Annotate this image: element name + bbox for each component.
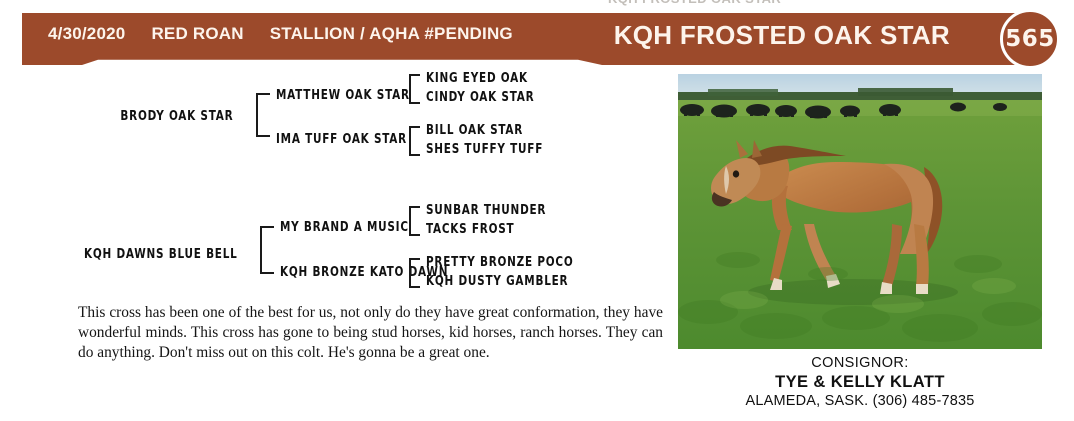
lot-number-badge: 565 <box>1000 9 1060 69</box>
foal-photo <box>678 74 1042 349</box>
lot-number-value: 565 <box>1005 26 1055 52</box>
page-title: KQH FROSTED OAK STAR <box>614 20 950 51</box>
banner-metadata-group: 4/30/2020 RED ROAN STALLION / AQHA #PEND… <box>48 24 513 44</box>
horse-description: This cross has been one of the best for … <box>78 303 663 363</box>
foal-sex-registry: STALLION / AQHA #PENDING <box>270 24 513 44</box>
pedigree-sire-sire-sire: KING EYED OAK <box>426 70 528 86</box>
pedigree-sire-sire-dam: CINDY OAK STAR <box>426 89 534 105</box>
pedigree-dam-sire-sire: SUNBAR THUNDER <box>426 202 546 218</box>
pedigree-dam: KQH DAWNS BLUE BELL <box>84 246 238 262</box>
pedigree-bracket-dam <box>260 226 274 274</box>
pedigree-tree: BRODY OAK STAR MATTHEW OAK STAR IMA TUFF… <box>70 66 670 294</box>
consignor-label: CONSIGNOR: <box>678 354 1042 372</box>
foal-date: 4/30/2020 <box>48 24 125 44</box>
pedigree-bracket-sire <box>256 93 270 137</box>
foal-hind-hoof-near <box>916 284 928 294</box>
pedigree-bracket-sire-sire <box>409 74 420 104</box>
pedigree-sire-dam: IMA TUFF OAK STAR <box>276 131 407 147</box>
consignor-location: ALAMEDA, SASK. (306) 485-7835 <box>678 392 1042 411</box>
foal-eye <box>733 170 739 177</box>
pedigree-sire-dam-dam: SHES TUFFY TUFF <box>426 141 543 157</box>
consignor-block: CONSIGNOR: TYE & KELLY KLATT ALAMEDA, SA… <box>678 354 1042 411</box>
header-banner: 4/30/2020 RED ROAN STALLION / AQHA #PEND… <box>22 13 1028 65</box>
pedigree-dam-dam: KQH BRONZE KATO DAWN <box>280 264 448 280</box>
pedigree-sire: BRODY OAK STAR <box>120 108 233 124</box>
foal-color: RED ROAN <box>151 24 243 44</box>
foal-hind-hoof-far <box>880 282 892 294</box>
pedigree-dam-dam-dam: KQH DUSTY GAMBLER <box>426 273 568 289</box>
pedigree-dam-sire-dam: TACKS FROST <box>426 221 514 237</box>
pedigree-dam-sire: MY BRAND A MUSIC <box>280 219 409 235</box>
pedigree-bracket-dam-dam <box>409 258 420 288</box>
pedigree-sire-sire: MATTHEW OAK STAR <box>276 87 410 103</box>
foal-photo-illustration <box>678 74 1042 349</box>
pedigree-sire-dam-sire: BILL OAK STAR <box>426 122 523 138</box>
ghost-title-text: KQH FROSTED OAK STAR <box>608 0 781 6</box>
pedigree-bracket-dam-sire <box>409 206 420 236</box>
pedigree-bracket-sire-dam <box>409 126 420 156</box>
consignor-name: TYE & KELLY KLATT <box>678 372 1042 392</box>
top-ghost-text-strip: KQH FROSTED OAK STAR <box>0 0 1074 9</box>
pedigree-dam-dam-sire: PRETTY BRONZE POCO <box>426 254 574 270</box>
